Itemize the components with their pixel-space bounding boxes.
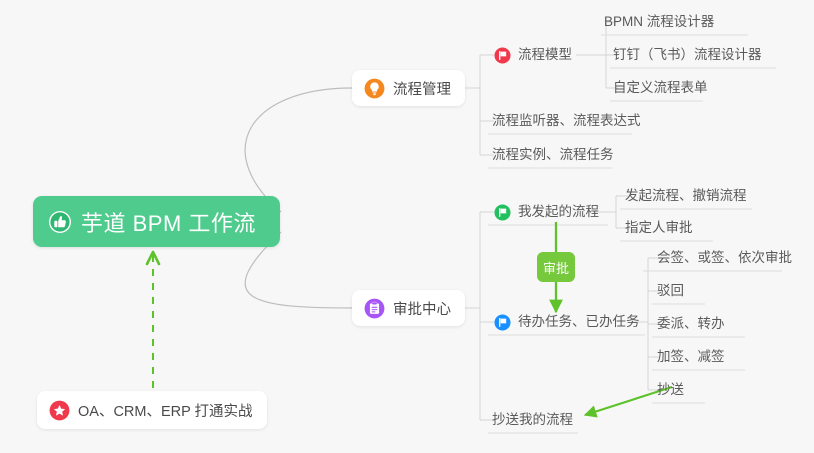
flag-icon — [494, 47, 511, 64]
node-approval-center-label: 审批中心 — [393, 298, 451, 319]
node-oa-crm-erp-label: OA、CRM、ERP 打通实战 — [78, 400, 253, 421]
leaf-custom-form[interactable]: 自定义流程表单 — [613, 77, 708, 99]
leaf-custom-form-label: 自定义流程表单 — [613, 77, 708, 99]
lightbulb-icon — [364, 78, 385, 99]
thumbs-up-icon — [48, 210, 72, 234]
leaf-cc-to-me-process-label: 抄送我的流程 — [492, 409, 573, 431]
leaf-bpmn-designer-label: BPMN 流程设计器 — [604, 11, 714, 33]
mindmap-canvas: 芋道 BPM 工作流 流程管理 流程模型 BPMN 流程设计器 钉钉（飞书）流程 — [0, 0, 814, 453]
edge-root-to-process-management — [245, 88, 352, 212]
leaf-start-cancel-process-label: 发起流程、撤销流程 — [625, 185, 747, 207]
leaf-process-instance[interactable]: 流程实例、流程任务 — [492, 144, 614, 166]
leaf-assignee-approval-label: 指定人审批 — [625, 217, 693, 239]
leaf-cc-to-me-process[interactable]: 抄送我的流程 — [492, 409, 573, 431]
leaf-add-remove-sign[interactable]: 加签、减签 — [657, 346, 725, 368]
leaf-delegate-transfer[interactable]: 委派、转办 — [657, 313, 725, 335]
leaf-dingtalk-designer-label: 钉钉（飞书）流程设计器 — [613, 44, 762, 66]
approval-tag: 审批 — [537, 252, 575, 282]
leaf-carbon-copy[interactable]: 抄送 — [657, 379, 684, 401]
root-node[interactable]: 芋道 BPM 工作流 — [33, 196, 280, 247]
leaf-delegate-transfer-label: 委派、转办 — [657, 313, 725, 335]
leaf-assignee-approval[interactable]: 指定人审批 — [625, 217, 693, 239]
leaf-carbon-copy-label: 抄送 — [657, 379, 684, 401]
leaf-bpmn-designer[interactable]: BPMN 流程设计器 — [604, 11, 714, 33]
leaf-dingtalk-designer[interactable]: 钉钉（飞书）流程设计器 — [613, 44, 762, 66]
leaf-start-cancel-process[interactable]: 发起流程、撤销流程 — [625, 185, 747, 207]
clipboard-icon — [364, 298, 385, 319]
node-process-management-label: 流程管理 — [393, 78, 451, 99]
leaf-reject-label: 驳回 — [657, 280, 684, 302]
node-process-model-label: 流程模型 — [518, 44, 572, 66]
flag-icon — [494, 314, 511, 331]
node-todo-done-tasks-label: 待办任务、已办任务 — [518, 311, 640, 333]
leaf-reject[interactable]: 驳回 — [657, 280, 684, 302]
node-process-management[interactable]: 流程管理 — [352, 70, 465, 106]
leaf-process-listener[interactable]: 流程监听器、流程表达式 — [492, 110, 641, 132]
node-approval-center[interactable]: 审批中心 — [352, 290, 465, 326]
root-label: 芋道 BPM 工作流 — [81, 206, 256, 238]
node-process-model[interactable]: 流程模型 — [494, 44, 572, 66]
approval-tag-label: 审批 — [543, 258, 569, 277]
leaf-process-listener-label: 流程监听器、流程表达式 — [492, 110, 641, 132]
flag-icon — [494, 204, 511, 221]
leaf-process-instance-label: 流程实例、流程任务 — [492, 144, 614, 166]
node-oa-crm-erp[interactable]: OA、CRM、ERP 打通实战 — [37, 391, 267, 429]
node-my-initiated-process[interactable]: 我发起的流程 — [494, 201, 599, 223]
node-my-initiated-process-label: 我发起的流程 — [518, 201, 599, 223]
leaf-countersign-label: 会签、或签、依次审批 — [657, 247, 792, 269]
leaf-add-remove-sign-label: 加签、减签 — [657, 346, 725, 368]
node-todo-done-tasks[interactable]: 待办任务、已办任务 — [494, 311, 640, 333]
star-icon — [49, 400, 70, 421]
leaf-countersign[interactable]: 会签、或签、依次审批 — [657, 247, 792, 269]
